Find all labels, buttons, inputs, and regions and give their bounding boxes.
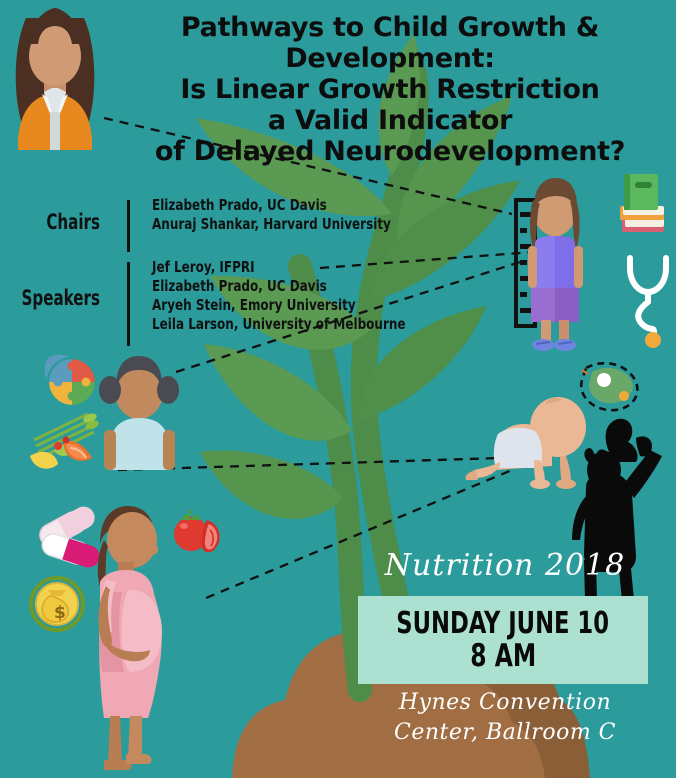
pill-capsule-icon [36, 503, 102, 570]
speaker-name: Jef Leroy, IFPRI [152, 258, 406, 277]
title-line-2: Development: [105, 43, 675, 74]
speaker-name: Elizabeth Prado, UC Davis [152, 277, 406, 296]
speakers-label: Speakers [0, 286, 100, 310]
speakers-list: Jef Leroy, IFPRI Elizabeth Prado, UC Dav… [152, 258, 406, 334]
poster-canvas: $ [0, 0, 676, 778]
svg-text:$: $ [54, 603, 66, 623]
tomato-icon [174, 510, 220, 552]
event-date-box: SUNDAY JUNE 10 8 AM [358, 596, 648, 684]
poster-title: Pathways to Child Growth & Development: … [105, 12, 675, 167]
speakers-divider [127, 262, 130, 346]
girl-with-pigtails-illustration [99, 356, 179, 470]
conference-name: Nutrition 2018 [360, 548, 650, 583]
event-venue: Hynes Convention Center, Ballroom C [355, 688, 655, 748]
title-line-3: Is Linear Growth Restriction [105, 74, 675, 105]
chairs-list: Elizabeth Prado, UC Davis Anuraj Shankar… [152, 196, 391, 234]
healthy-food-icon [30, 412, 100, 469]
puzzle-circle-icon [45, 355, 96, 406]
title-line-1: Pathways to Child Growth & [105, 12, 675, 43]
money-bag-coin-icon: $ [31, 578, 83, 630]
event-date: SUNDAY JUNE 10 [397, 608, 610, 640]
chair-name: Anuraj Shankar, Harvard University [152, 215, 391, 234]
venue-line-1: Hynes Convention [355, 688, 655, 718]
chairs-label: Chairs [0, 210, 100, 234]
event-time: 8 AM [470, 640, 536, 673]
stacked-books-icon [620, 174, 664, 232]
woman-professional-avatar [16, 8, 95, 150]
speaker-name: Leila Larson, University of Melbourne [152, 315, 406, 334]
crawling-baby-illustration [465, 397, 586, 489]
bacteria-icon [581, 363, 637, 410]
venue-line-2: Center, Ballroom C [355, 718, 655, 748]
title-line-4: a Valid Indicator [105, 105, 675, 136]
speaker-name: Aryeh Stein, Emory University [152, 296, 406, 315]
stethoscope-diaphragm [645, 332, 661, 348]
chairs-divider [127, 200, 130, 252]
title-line-5: of Delayed Neurodevelopment? [105, 136, 675, 167]
stethoscope-icon [630, 258, 666, 332]
chair-name: Elizabeth Prado, UC Davis [152, 196, 391, 215]
pregnant-woman-illustration [98, 506, 162, 770]
